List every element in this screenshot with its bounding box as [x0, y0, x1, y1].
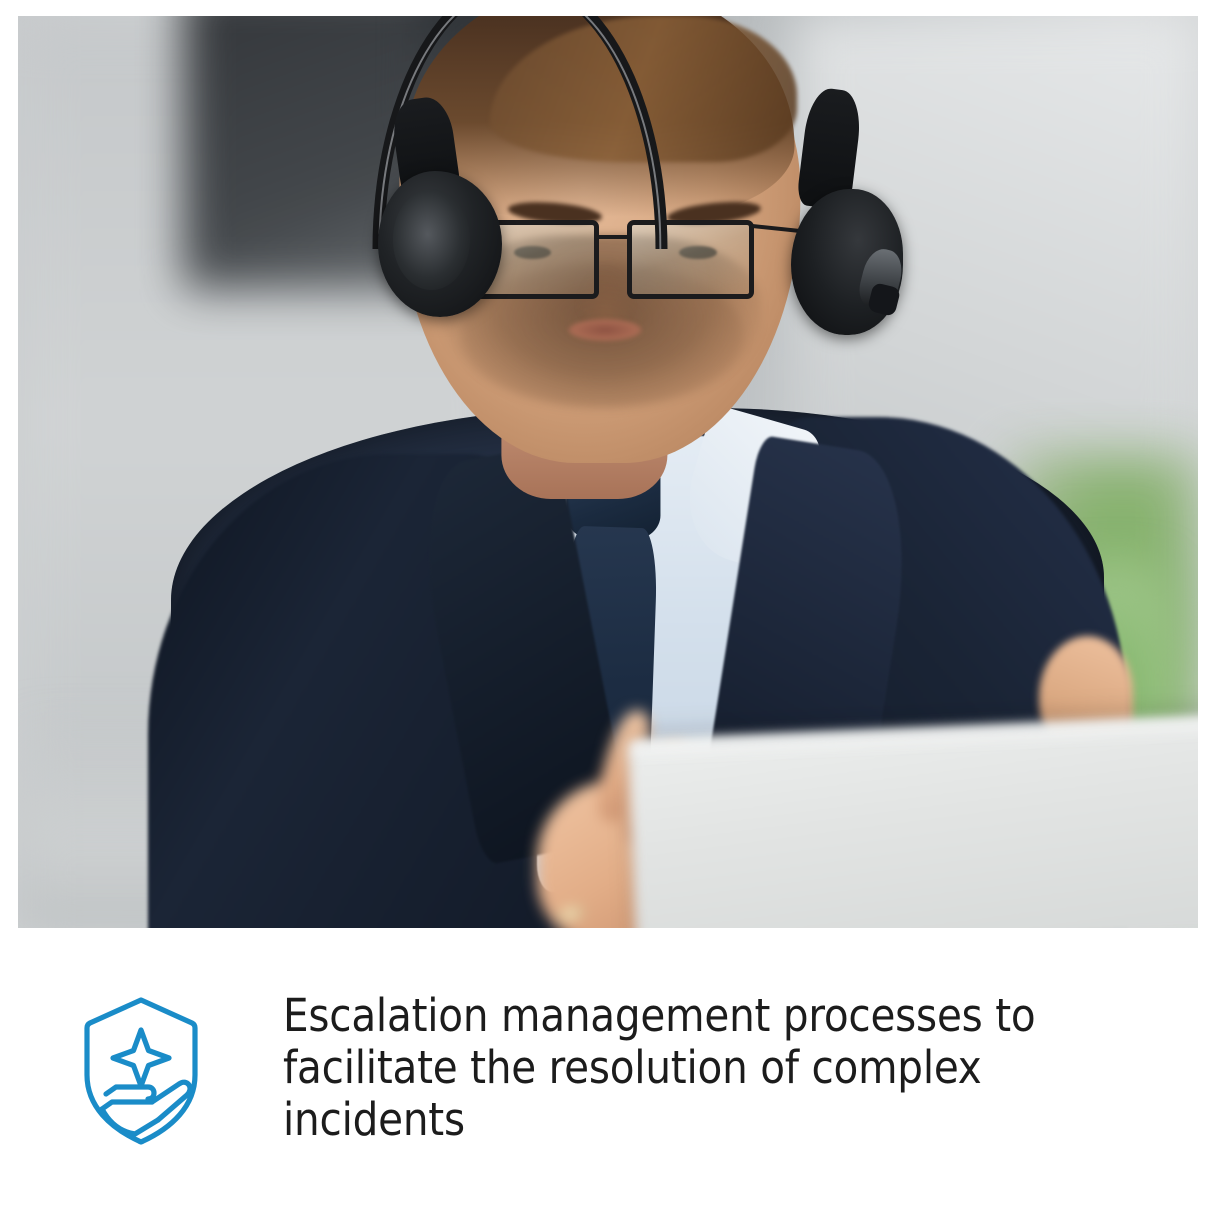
page-root: Escalation management processes to facil… — [0, 0, 1214, 1214]
caption-line-1: Escalation management processes to — [283, 990, 1103, 1042]
hero-photo — [18, 16, 1198, 928]
caption-line-3: incidents — [283, 1094, 1103, 1146]
headset-earcup-left-pad — [393, 189, 470, 289]
caption-panel: Escalation management processes to facil… — [0, 928, 1214, 1214]
caption-line-2: facilitate the resolution of complex — [283, 1042, 1103, 1094]
caption-text: Escalation management processes to facil… — [283, 990, 1103, 1146]
shield-hand-sparkle-icon — [80, 996, 202, 1146]
